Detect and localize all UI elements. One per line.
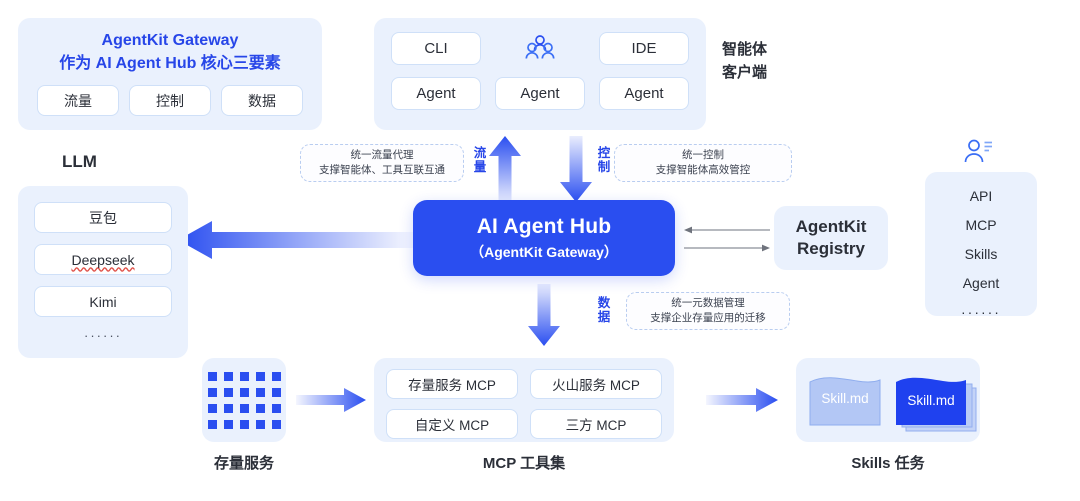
mcp-toolset-card: 存量服务 MCP 火山服务 MCP 自定义 MCP 三方 MCP <box>374 358 674 442</box>
hub-to-llm-arrow <box>178 218 416 262</box>
registry-line-1: AgentKit <box>796 216 867 238</box>
registry-label: AgentKit Registry <box>774 206 888 270</box>
gateway-pillars: 流量 控制 数据 <box>18 85 322 116</box>
mcp-row-bottom: 自定义 MCP 三方 MCP <box>374 409 674 439</box>
pillar-data[interactable]: 数据 <box>221 85 303 116</box>
clients-side-label: 智能体 客户端 <box>722 38 767 85</box>
pillar-traffic[interactable]: 流量 <box>37 85 119 116</box>
control-label-char-1: 控 <box>597 146 611 160</box>
client-agent-2[interactable]: Agent <box>495 77 585 110</box>
skills-docs: Skill.md Skill.md <box>796 358 980 442</box>
traffic-flow-arrow-up <box>487 136 523 202</box>
client-agent-1[interactable]: Agent <box>391 77 481 110</box>
data-label-char-1: 数 <box>597 296 611 310</box>
skill-doc-light-label: Skill.md <box>809 391 881 406</box>
legacy-services-label: 存量服务 <box>186 452 302 473</box>
llm-heading: LLM <box>62 152 97 172</box>
data-note-line-1: 统一元数据管理 <box>671 296 745 311</box>
traffic-note-line-1: 统一流量代理 <box>351 148 414 163</box>
skills-card: Skill.md Skill.md <box>796 358 980 442</box>
resource-mcp[interactable]: MCP <box>925 217 1037 233</box>
control-flow-arrow-down <box>558 136 594 202</box>
data-flow-arrow-down <box>526 284 562 346</box>
client-agent-3[interactable]: Agent <box>599 77 689 110</box>
traffic-label-char-1: 流 <box>473 146 487 160</box>
skill-doc-light[interactable]: Skill.md <box>809 374 881 426</box>
data-flow-label: 数 据 <box>597 296 611 325</box>
resources-ellipsis: ······ <box>925 304 1037 320</box>
hub-subtitle: （AgentKit Gateway） <box>470 242 618 262</box>
client-ide[interactable]: IDE <box>599 32 689 65</box>
agentkit-gateway-card: AgentKit Gateway 作为 AI Agent Hub 核心三要素 流… <box>18 18 322 130</box>
traffic-note: 统一流量代理 支撑智能体、工具互联互通 <box>300 144 464 182</box>
mcp-row-top: 存量服务 MCP 火山服务 MCP <box>374 358 674 399</box>
mcp-toolset-label: MCP 工具集 <box>444 452 604 473</box>
skill-doc-solid[interactable]: Skill.md <box>895 374 967 426</box>
control-note-line-2: 支撑智能体高效管控 <box>656 163 751 178</box>
legacy-to-mcp-arrow <box>296 386 366 414</box>
llm-card: 豆包 Deepseek Kimi ······ <box>18 186 188 358</box>
agentkit-registry-card: AgentKit Registry <box>774 206 888 270</box>
clients-row-top: CLI IDE <box>374 18 706 65</box>
data-note: 统一元数据管理 支撑企业存量应用的迁移 <box>626 292 790 330</box>
control-label-char-2: 制 <box>597 160 611 174</box>
mcp-third-party[interactable]: 三方 MCP <box>530 409 662 439</box>
control-flow-label: 控 制 <box>597 146 611 175</box>
data-note-line-2: 支撑企业存量应用的迁移 <box>650 311 766 326</box>
data-label-char-2: 据 <box>597 310 611 324</box>
skill-doc-solid-label: Skill.md <box>895 393 967 408</box>
resource-skills[interactable]: Skills <box>925 246 1037 262</box>
diagram-canvas: AgentKit Gateway 作为 AI Agent Hub 核心三要素 流… <box>0 0 1080 501</box>
pillar-control[interactable]: 控制 <box>129 85 211 116</box>
traffic-label-char-2: 量 <box>473 160 487 174</box>
gateway-card-title: AgentKit Gateway 作为 AI Agent Hub 核心三要素 <box>18 18 322 75</box>
user-list-icon <box>963 138 993 171</box>
llm-ellipsis: ······ <box>18 328 188 343</box>
users-group-icon <box>495 32 585 65</box>
control-note-line-1: 统一控制 <box>682 148 724 163</box>
traffic-note-line-2: 支撑智能体、工具互联互通 <box>319 163 445 178</box>
mcp-custom[interactable]: 自定义 MCP <box>386 409 518 439</box>
legacy-services-card <box>202 358 286 442</box>
llm-item-kimi[interactable]: Kimi <box>34 286 172 317</box>
traffic-flow-label: 流 量 <box>473 146 487 175</box>
resource-api[interactable]: API <box>925 188 1037 204</box>
hub-registry-bidirectional-arrows <box>682 222 772 256</box>
resources-card: API MCP Skills Agent ······ <box>925 172 1037 316</box>
gateway-title-line-2: 作为 AI Agent Hub 核心三要素 <box>18 52 322 75</box>
mcp-to-skills-arrow <box>706 386 778 414</box>
clients-label-line-1: 智能体 <box>722 38 767 61</box>
agent-clients-card: CLI IDE Agent Agent Agent <box>374 18 706 130</box>
legacy-services-dot-grid <box>202 358 286 442</box>
registry-line-2: Registry <box>796 238 867 260</box>
clients-row-bottom: Agent Agent Agent <box>374 77 706 110</box>
ai-agent-hub-box[interactable]: AI Agent Hub （AgentKit Gateway） <box>413 200 675 276</box>
mcp-legacy-service[interactable]: 存量服务 MCP <box>386 369 518 399</box>
llm-item-deepseek[interactable]: Deepseek <box>34 244 172 275</box>
hub-title: AI Agent Hub <box>477 215 612 239</box>
clients-label-line-2: 客户端 <box>722 61 767 84</box>
gateway-title-line-1: AgentKit Gateway <box>18 29 322 52</box>
mcp-volcano-service[interactable]: 火山服务 MCP <box>530 369 662 399</box>
resource-agent[interactable]: Agent <box>925 275 1037 291</box>
client-cli[interactable]: CLI <box>391 32 481 65</box>
control-note: 统一控制 支撑智能体高效管控 <box>614 144 792 182</box>
skills-label: Skills 任务 <box>818 452 958 473</box>
llm-item-doubao[interactable]: 豆包 <box>34 202 172 233</box>
llm-item-deepseek-label: Deepseek <box>71 252 134 268</box>
